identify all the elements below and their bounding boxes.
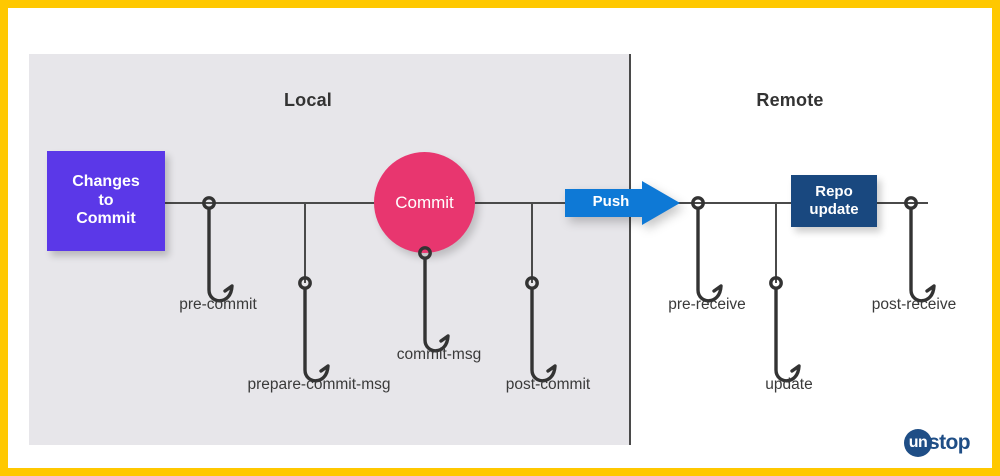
repo-update-box: Repo update (791, 175, 877, 227)
hook-label-commit-msg: commit-msg (397, 346, 481, 364)
repo-line-2: update (809, 201, 858, 219)
diagram-canvas: Local Remote Changes to Commit Commit Pu… (0, 0, 1000, 476)
local-remote-divider (629, 54, 631, 445)
changes-line-3: Commit (72, 210, 140, 229)
remote-section-title: Remote (756, 90, 823, 111)
hook-label-pre-commit: pre-commit (179, 296, 257, 314)
logo-text: stop (928, 431, 970, 455)
repo-line-1: Repo (809, 183, 858, 201)
push-arrow-icon (565, 181, 680, 225)
unstop-logo: un stop (904, 428, 970, 458)
local-section-title: Local (284, 90, 332, 111)
hook-label-post-receive: post-receive (872, 296, 956, 314)
hook-label-pre-receive: pre-receive (668, 296, 746, 314)
hook-label-update: update (765, 376, 812, 394)
changes-to-commit-box: Changes to Commit (47, 151, 165, 251)
logo-mark: un (904, 429, 932, 457)
hook-label-prepare-commit-msg: prepare-commit-msg (248, 376, 391, 394)
commit-node: Commit (374, 152, 475, 253)
hook-label-post-commit: post-commit (506, 376, 590, 394)
commit-label: Commit (395, 193, 454, 213)
changes-line-1: Changes (72, 173, 140, 192)
changes-line-2: to (72, 192, 140, 211)
